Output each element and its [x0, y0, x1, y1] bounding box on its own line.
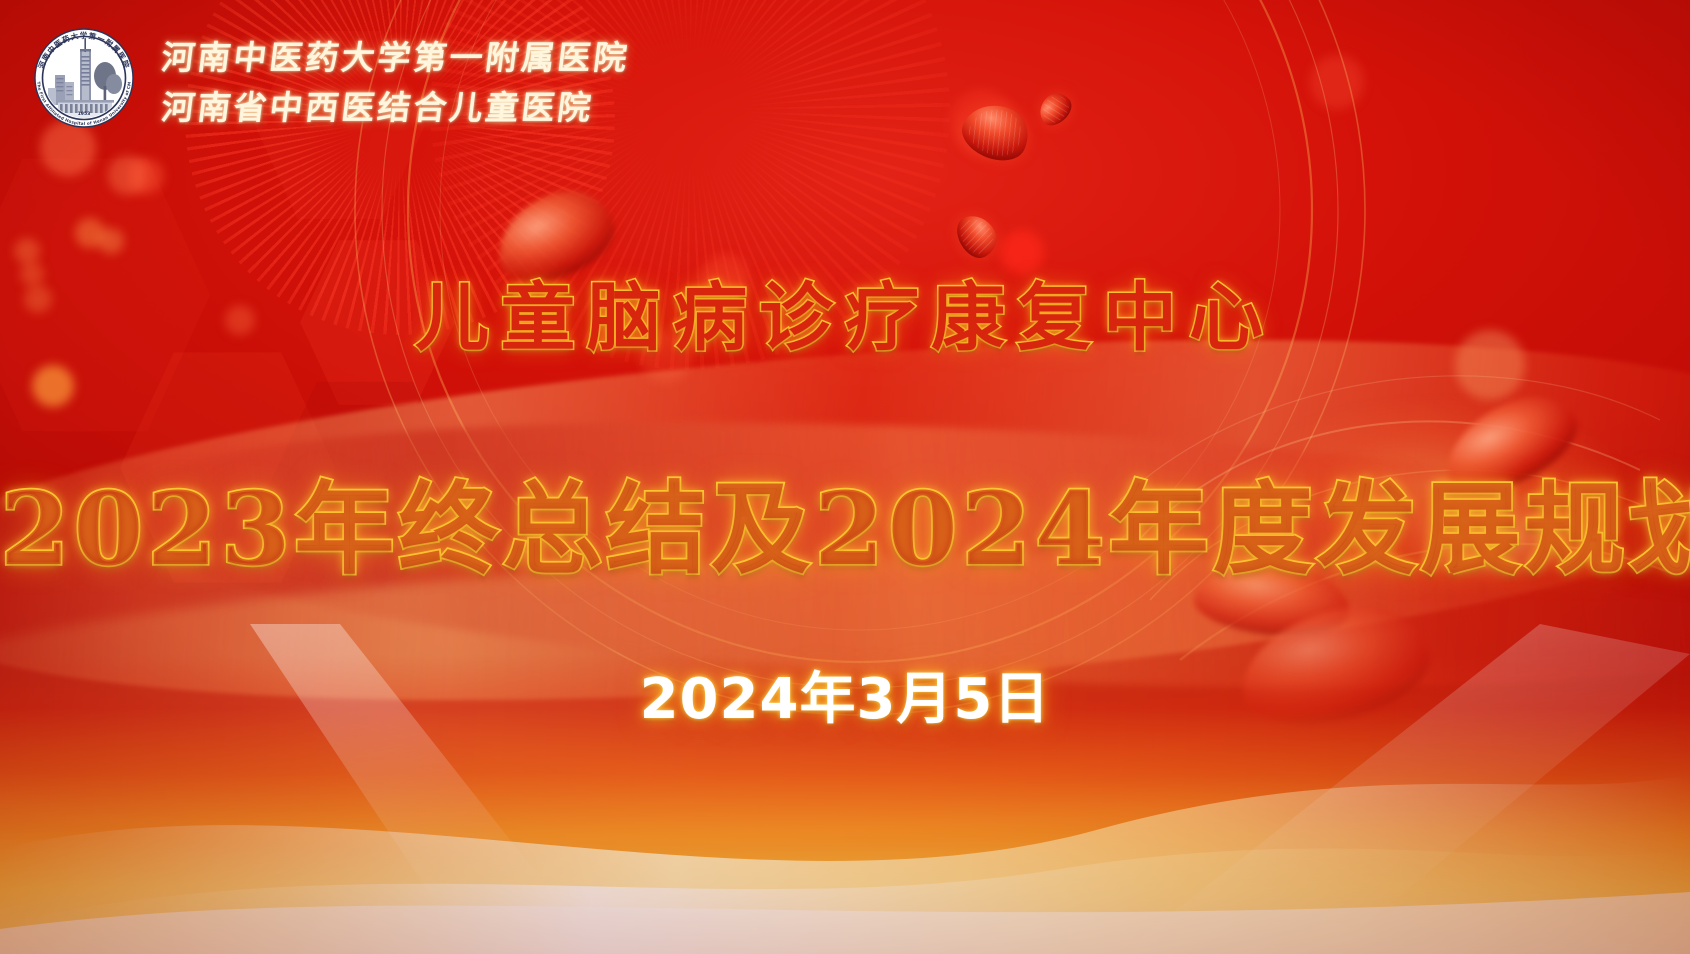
organization-names: 河南中医药大学第一附属医院 河南省中西医结合儿童医院 [162, 27, 630, 129]
event-date: 2024年3月5日 [0, 654, 1690, 735]
page-title: 2023年终总结及2024年度发展规划 [0, 448, 1690, 593]
svg-text:1953: 1953 [78, 111, 91, 117]
hospital-header: 河南中医药大学第一附属医院 The First Affiliated Hospi… [24, 18, 630, 138]
org-name-line-1: 河南中医药大学第一附属医院 [159, 31, 633, 79]
org-name-line-2: 河南省中西医结合儿童医院 [159, 81, 633, 129]
poster-canvas: 河南中医药大学第一附属医院 The First Affiliated Hospi… [0, 0, 1690, 954]
center-title: 儿童脑病诊疗康复中心 [0, 258, 1690, 365]
hospital-seal-logo-icon: 河南中医药大学第一附属医院 The First Affiliated Hospi… [24, 18, 144, 138]
